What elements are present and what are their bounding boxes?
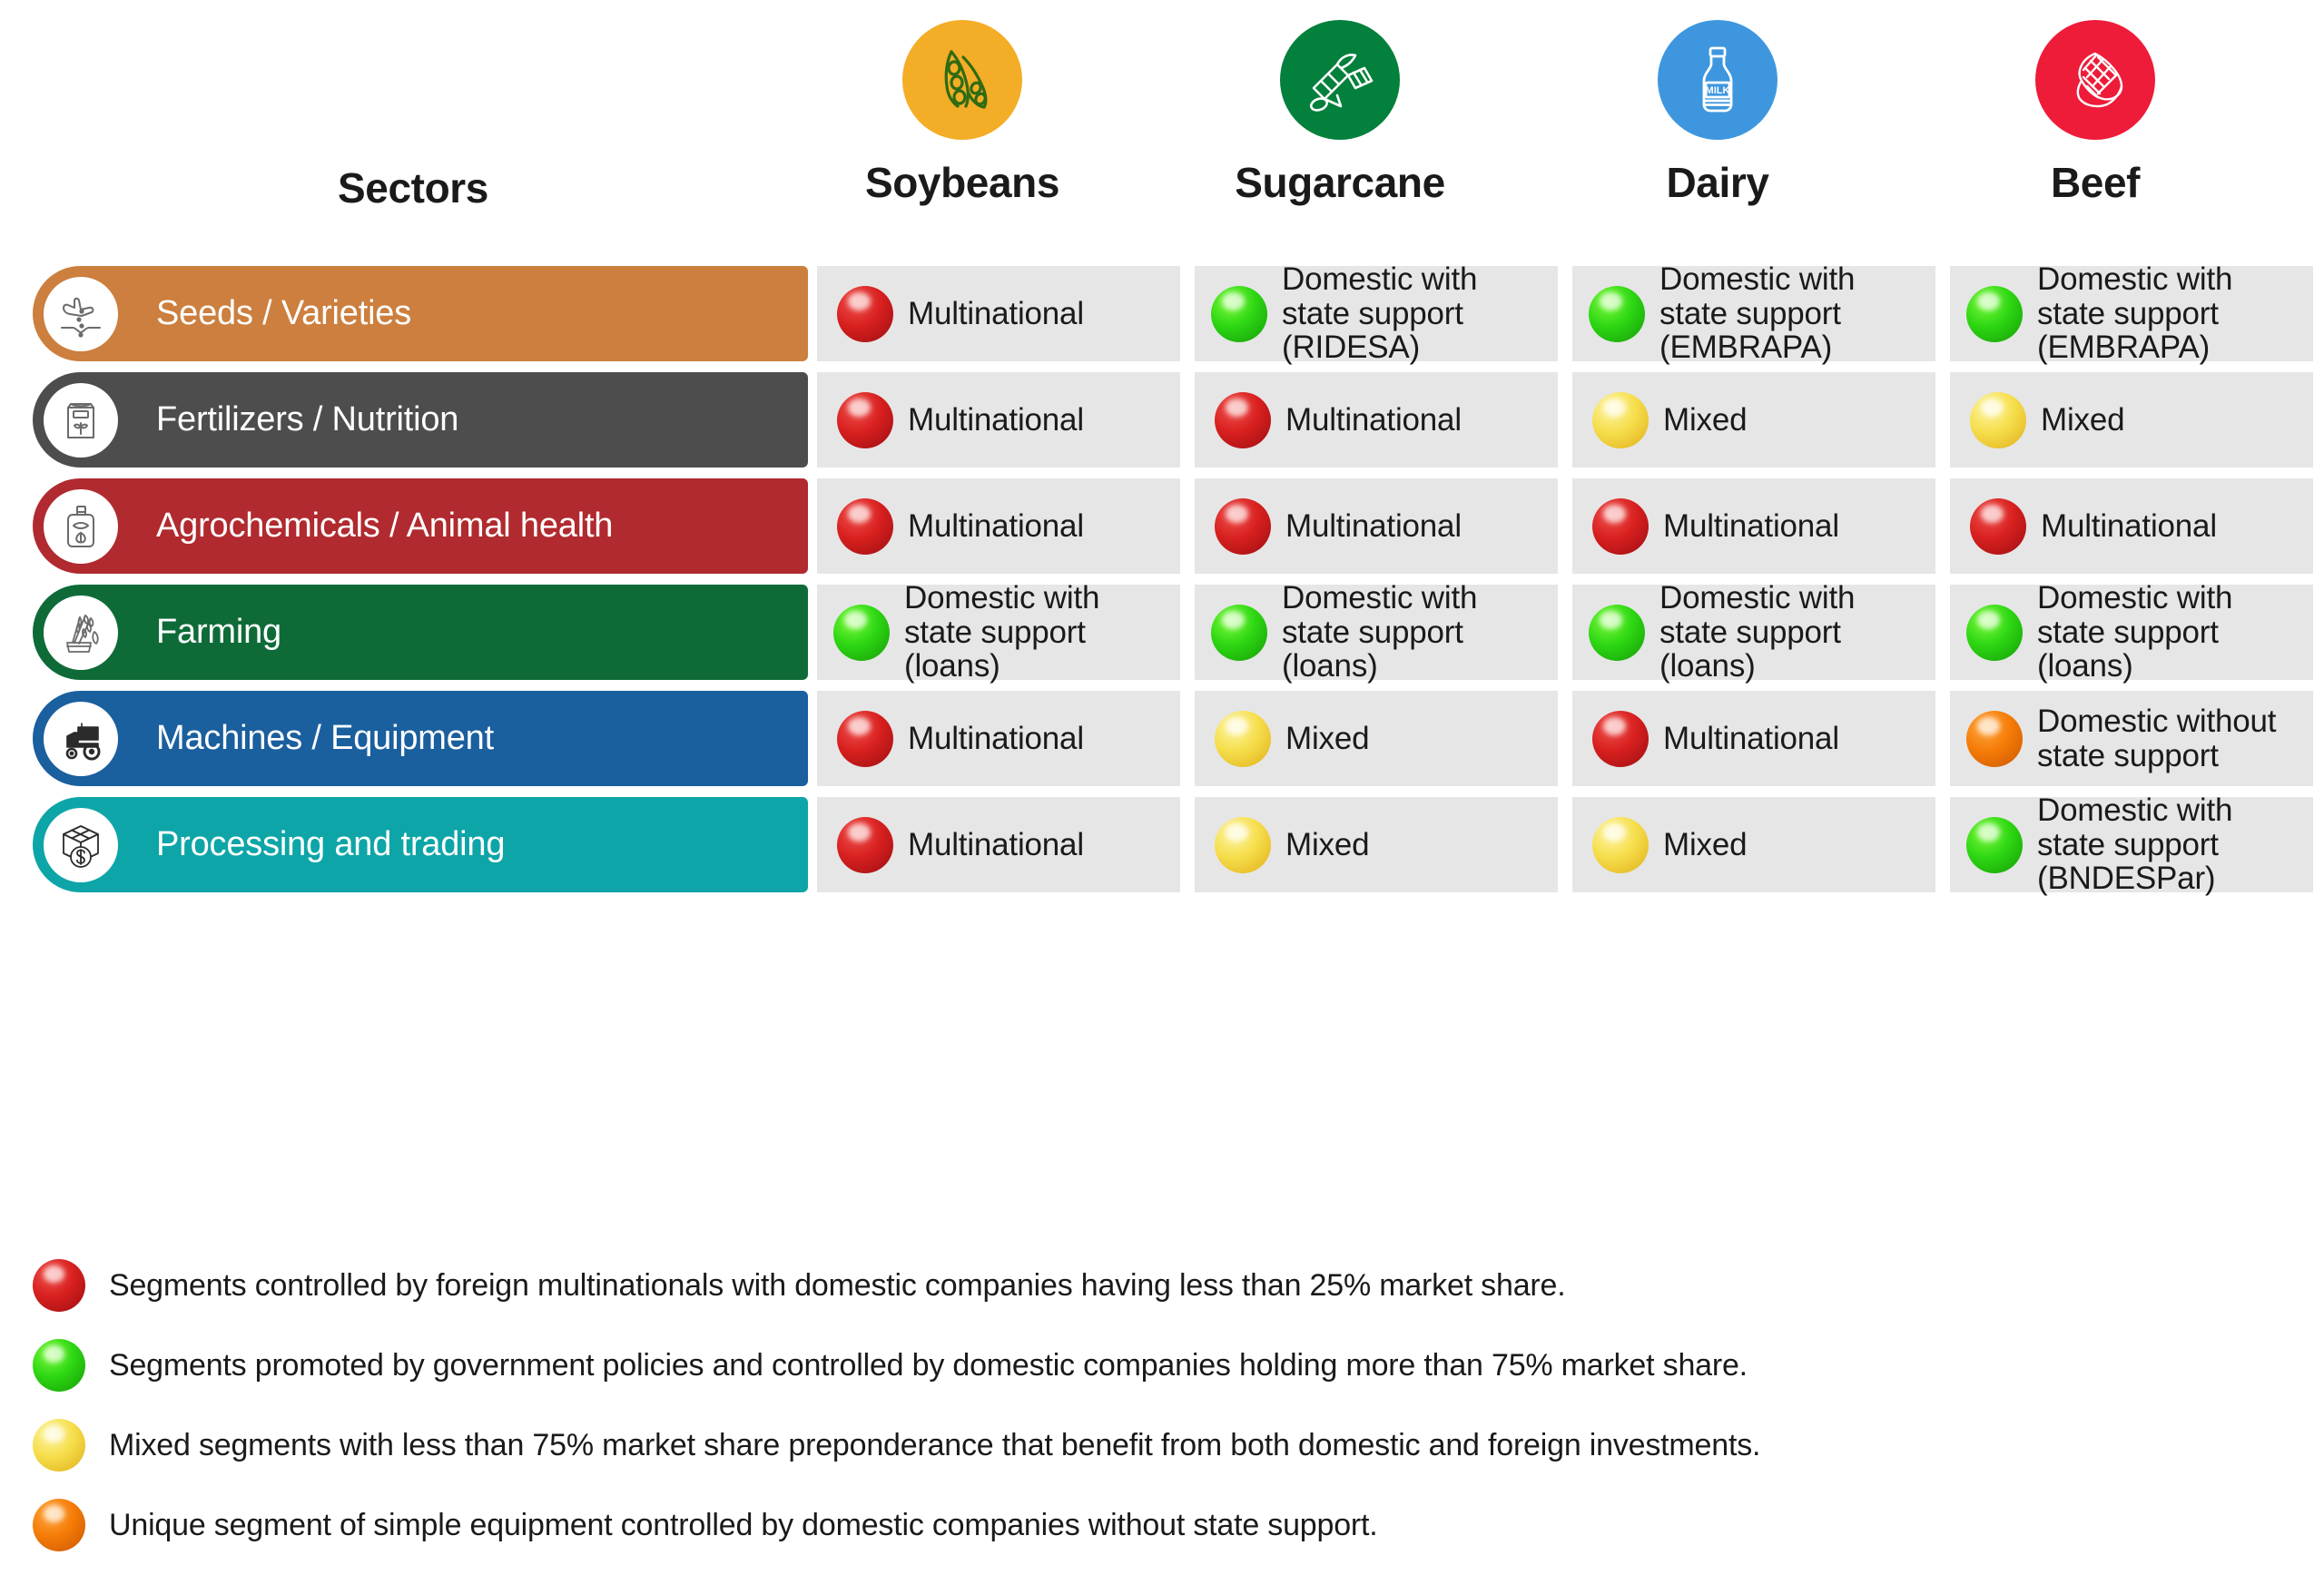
cell-fertilizers-beef: Mixed <box>1950 372 2313 468</box>
header-column-sugarcane: Sugarcane <box>1195 16 1485 203</box>
table-header: Sectors <box>0 0 2324 259</box>
status-dot-yellow <box>33 1419 85 1472</box>
cell-text: Multinational <box>1285 509 1462 543</box>
legend-item-red: Segments controlled by foreign multinati… <box>0 1245 2324 1325</box>
legend-text: Mixed segments with less than 75% market… <box>109 1428 1760 1463</box>
hand-sowing-seeds-icon <box>44 277 118 351</box>
cell-text: Domestic with state support (EMBRAPA) <box>1659 262 1928 364</box>
header-column-beef: Beef <box>1950 16 2240 203</box>
legend-item-yellow: Mixed segments with less than 75% market… <box>0 1405 2324 1485</box>
cell-machines-beef: Domestic without state support <box>1950 691 2313 786</box>
status-dot-red <box>1592 498 1649 555</box>
sector-grid: Seeds / Varieties Multinational Domestic… <box>0 266 2324 903</box>
header-label-sugarcane: Sugarcane <box>1195 162 1485 203</box>
legend-text: Segments controlled by foreign multinati… <box>109 1268 1565 1304</box>
cell-agrochemicals-dairy: Multinational <box>1572 478 1935 574</box>
sector-pill-farming[interactable]: Farming <box>33 585 808 680</box>
status-dot-green <box>1966 605 2023 661</box>
header-label-soybeans: Soybeans <box>817 162 1108 203</box>
cell-farming-dairy: Domestic with state support (loans) <box>1572 585 1935 680</box>
wheat-sheaf-icon <box>44 596 118 670</box>
svg-text:MILK: MILK <box>1706 85 1730 96</box>
legend-item-green: Segments promoted by government policies… <box>0 1325 2324 1405</box>
cell-farming-soybeans: Domestic with state support (loans) <box>817 585 1180 680</box>
legend: Segments controlled by foreign multinati… <box>0 1245 2324 1565</box>
status-dot-red <box>33 1259 85 1312</box>
beef-steak-icon <box>2035 20 2155 140</box>
cell-processing-soybeans: Multinational <box>817 797 1180 892</box>
milk-bottle-icon: MILK <box>1658 20 1777 140</box>
status-dot-red <box>837 286 893 342</box>
tractor-icon <box>44 702 118 776</box>
cell-text: Domestic with state support (loans) <box>1282 581 1551 683</box>
status-dot-red <box>837 392 893 448</box>
cell-agrochemicals-soybeans: Multinational <box>817 478 1180 574</box>
cell-text: Multinational <box>908 403 1084 437</box>
header-label-dairy: Dairy <box>1572 162 1863 203</box>
status-dot-yellow <box>1215 817 1271 873</box>
status-dot-red <box>1215 392 1271 448</box>
status-dot-green <box>1211 286 1267 342</box>
cell-text: Mixed <box>1285 722 1369 755</box>
sector-label: Machines / Equipment <box>156 719 494 758</box>
cell-machines-soybeans: Multinational <box>817 691 1180 786</box>
sugarcane-icon-wrap <box>1195 16 1485 143</box>
cell-text: Multinational <box>908 722 1084 755</box>
sector-pill-machines-equipment[interactable]: Machines / Equipment <box>33 691 808 786</box>
cell-text: Multinational <box>908 509 1084 543</box>
sector-label: Fertilizers / Nutrition <box>156 400 458 439</box>
status-dot-yellow <box>1592 817 1649 873</box>
soybeans-icon-wrap <box>817 16 1108 143</box>
legend-item-orange: Unique segment of simple equipment contr… <box>0 1485 2324 1565</box>
cell-text: Domestic with state support (RIDESA) <box>1282 262 1551 364</box>
legend-text: Segments promoted by government policies… <box>109 1348 1748 1383</box>
status-dot-red <box>837 498 893 555</box>
package-dollar-icon <box>44 808 118 882</box>
header-column-dairy: MILK Dairy <box>1572 16 1863 203</box>
status-dot-orange <box>33 1499 85 1551</box>
cell-text: Mixed <box>1285 828 1369 861</box>
cell-machines-dairy: Multinational <box>1572 691 1935 786</box>
status-dot-yellow <box>1215 711 1271 767</box>
dairy-icon-wrap: MILK <box>1572 16 1863 143</box>
table-row: Machines / Equipment Multinational Mixed… <box>0 691 2324 786</box>
sector-pill-fertilizers-nutrition[interactable]: Fertilizers / Nutrition <box>33 372 808 468</box>
cell-text: Multinational <box>1663 509 1839 543</box>
cell-text: Domestic with state support (BNDESPar) <box>2037 793 2306 895</box>
cell-agrochemicals-sugarcane: Multinational <box>1195 478 1558 574</box>
soybean-pod-icon <box>902 20 1022 140</box>
cell-text: Domestic with state support (EMBRAPA) <box>2037 262 2306 364</box>
cell-farming-beef: Domestic with state support (loans) <box>1950 585 2313 680</box>
status-dot-yellow <box>1592 392 1649 448</box>
cell-seeds-beef: Domestic with state support (EMBRAPA) <box>1950 266 2313 361</box>
cell-machines-sugarcane: Mixed <box>1195 691 1558 786</box>
cell-processing-beef: Domestic with state support (BNDESPar) <box>1950 797 2313 892</box>
status-dot-yellow <box>1970 392 2026 448</box>
sugarcane-icon <box>1280 20 1400 140</box>
table-row: Agrochemicals / Animal health Multinatio… <box>0 478 2324 574</box>
spray-bottle-icon <box>44 489 118 564</box>
cell-text: Domestic without state support <box>2037 704 2306 773</box>
status-dot-red <box>1970 498 2026 555</box>
cell-text: Multinational <box>1663 722 1839 755</box>
cell-text: Multinational <box>1285 403 1462 437</box>
status-dot-green <box>1211 605 1267 661</box>
table-row: Seeds / Varieties Multinational Domestic… <box>0 266 2324 361</box>
sector-pill-processing-and-trading[interactable]: Processing and trading <box>33 797 808 892</box>
status-dot-green <box>33 1339 85 1392</box>
status-dot-green <box>833 605 890 661</box>
header-label-beef: Beef <box>1950 162 2240 203</box>
sector-pill-seeds-varieties[interactable]: Seeds / Varieties <box>33 266 808 361</box>
status-dot-green <box>1966 817 2023 873</box>
cell-text: Mixed <box>1663 828 1747 861</box>
sector-label: Seeds / Varieties <box>156 294 411 333</box>
sector-pill-agrochemicals-animal-health[interactable]: Agrochemicals / Animal health <box>33 478 808 574</box>
cell-seeds-soybeans: Multinational <box>817 266 1180 361</box>
sector-label: Agrochemicals / Animal health <box>156 507 613 546</box>
status-dot-red <box>1215 498 1271 555</box>
cell-seeds-dairy: Domestic with state support (EMBRAPA) <box>1572 266 1935 361</box>
cell-agrochemicals-beef: Multinational <box>1950 478 2313 574</box>
status-dot-green <box>1589 605 1645 661</box>
cell-text: Mixed <box>2041 403 2124 437</box>
beef-icon-wrap <box>1950 16 2240 143</box>
cell-text: Domestic with state support (loans) <box>904 581 1173 683</box>
cell-fertilizers-sugarcane: Multinational <box>1195 372 1558 468</box>
table-row: Farming Domestic with state support (loa… <box>0 585 2324 680</box>
cell-text: Domestic with state support (loans) <box>1659 581 1928 683</box>
cell-text: Multinational <box>2041 509 2217 543</box>
infographic-table: Sectors <box>0 0 2324 1575</box>
cell-fertilizers-soybeans: Multinational <box>817 372 1180 468</box>
cell-text: Multinational <box>908 828 1084 861</box>
cell-seeds-sugarcane: Domestic with state support (RIDESA) <box>1195 266 1558 361</box>
cell-processing-dairy: Mixed <box>1572 797 1935 892</box>
cell-text: Multinational <box>908 297 1084 330</box>
status-dot-green <box>1589 286 1645 342</box>
status-dot-red <box>837 817 893 873</box>
sector-label: Farming <box>156 613 281 652</box>
table-row: Fertilizers / Nutrition Multinational Mu… <box>0 372 2324 468</box>
cell-text: Domestic with state support (loans) <box>2037 581 2306 683</box>
cell-farming-sugarcane: Domestic with state support (loans) <box>1195 585 1558 680</box>
cell-text: Mixed <box>1663 403 1747 437</box>
status-dot-orange <box>1966 711 2023 767</box>
sector-label: Processing and trading <box>156 825 505 864</box>
table-row: Processing and trading Multinational Mix… <box>0 797 2324 892</box>
cell-processing-sugarcane: Mixed <box>1195 797 1558 892</box>
header-sectors-title: Sectors <box>18 163 808 212</box>
status-dot-green <box>1966 286 2023 342</box>
status-dot-red <box>837 711 893 767</box>
status-dot-red <box>1592 711 1649 767</box>
legend-text: Unique segment of simple equipment contr… <box>109 1508 1378 1543</box>
header-column-soybeans: Soybeans <box>817 16 1108 203</box>
cell-fertilizers-dairy: Mixed <box>1572 372 1935 468</box>
fertilizer-bag-icon <box>44 383 118 458</box>
